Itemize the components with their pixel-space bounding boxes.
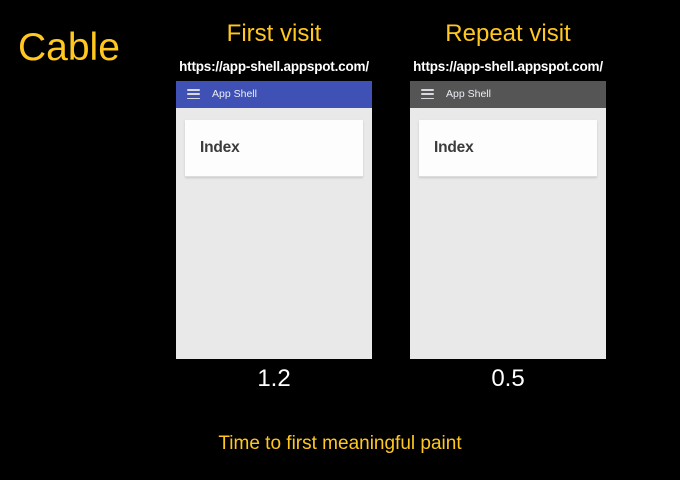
phone-content: Index — [176, 108, 372, 359]
app-bar: App Shell — [410, 81, 606, 108]
column-heading: First visit — [227, 22, 322, 46]
comparison-column-repeat-visit: Repeat visit https://app-shell.appspot.c… — [389, 22, 627, 391]
index-card[interactable]: Index — [185, 120, 363, 177]
metric-value: 1.2 — [257, 367, 290, 391]
column-url: https://app-shell.appspot.com/ — [179, 60, 369, 74]
phone-screenshot: App Shell Index — [410, 81, 606, 359]
column-heading: Repeat visit — [445, 22, 570, 46]
slide-label: Cable — [18, 28, 120, 67]
comparison-columns: First visit https://app-shell.appspot.co… — [155, 22, 665, 442]
hamburger-icon[interactable] — [421, 89, 434, 99]
index-card[interactable]: Index — [419, 120, 597, 177]
column-url: https://app-shell.appspot.com/ — [413, 60, 603, 74]
slide-caption: Time to first meaningful paint — [0, 434, 680, 453]
card-title: Index — [434, 140, 473, 156]
phone-screenshot: App Shell Index — [176, 81, 372, 359]
card-title: Index — [200, 140, 239, 156]
phone-content: Index — [410, 108, 606, 359]
hamburger-icon[interactable] — [187, 89, 200, 99]
app-bar: App Shell — [176, 81, 372, 108]
app-bar-title: App Shell — [446, 89, 491, 100]
comparison-column-first-visit: First visit https://app-shell.appspot.co… — [155, 22, 393, 391]
app-bar-title: App Shell — [212, 89, 257, 100]
metric-value: 0.5 — [491, 367, 524, 391]
